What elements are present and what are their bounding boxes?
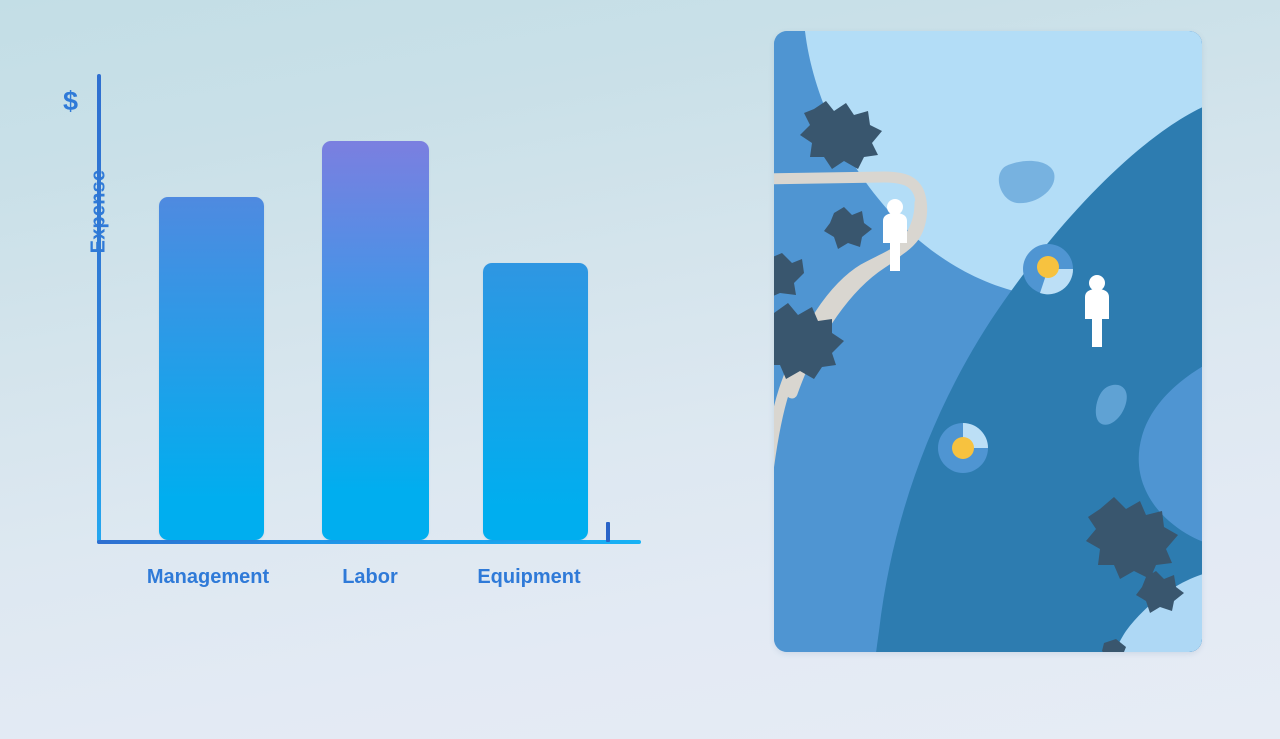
bar-labor[interactable]	[322, 141, 429, 541]
currency-symbol-label: $	[63, 86, 78, 117]
pie-marker-lower[interactable]	[938, 423, 988, 473]
bar-management[interactable]	[159, 197, 264, 540]
bar-label-equipment: Equipment	[429, 566, 629, 589]
bar-equipment[interactable]	[483, 263, 588, 540]
bar-series	[97, 70, 641, 542]
site-map-card[interactable]	[774, 31, 1202, 652]
map-graphic	[774, 31, 1202, 652]
expense-bar-chart: $ Expense ManagementLaborEquipment	[60, 70, 660, 550]
pie-marker-upper[interactable]	[1023, 244, 1073, 294]
chart-panel: $ Expense ManagementLaborEquipment	[0, 0, 700, 739]
